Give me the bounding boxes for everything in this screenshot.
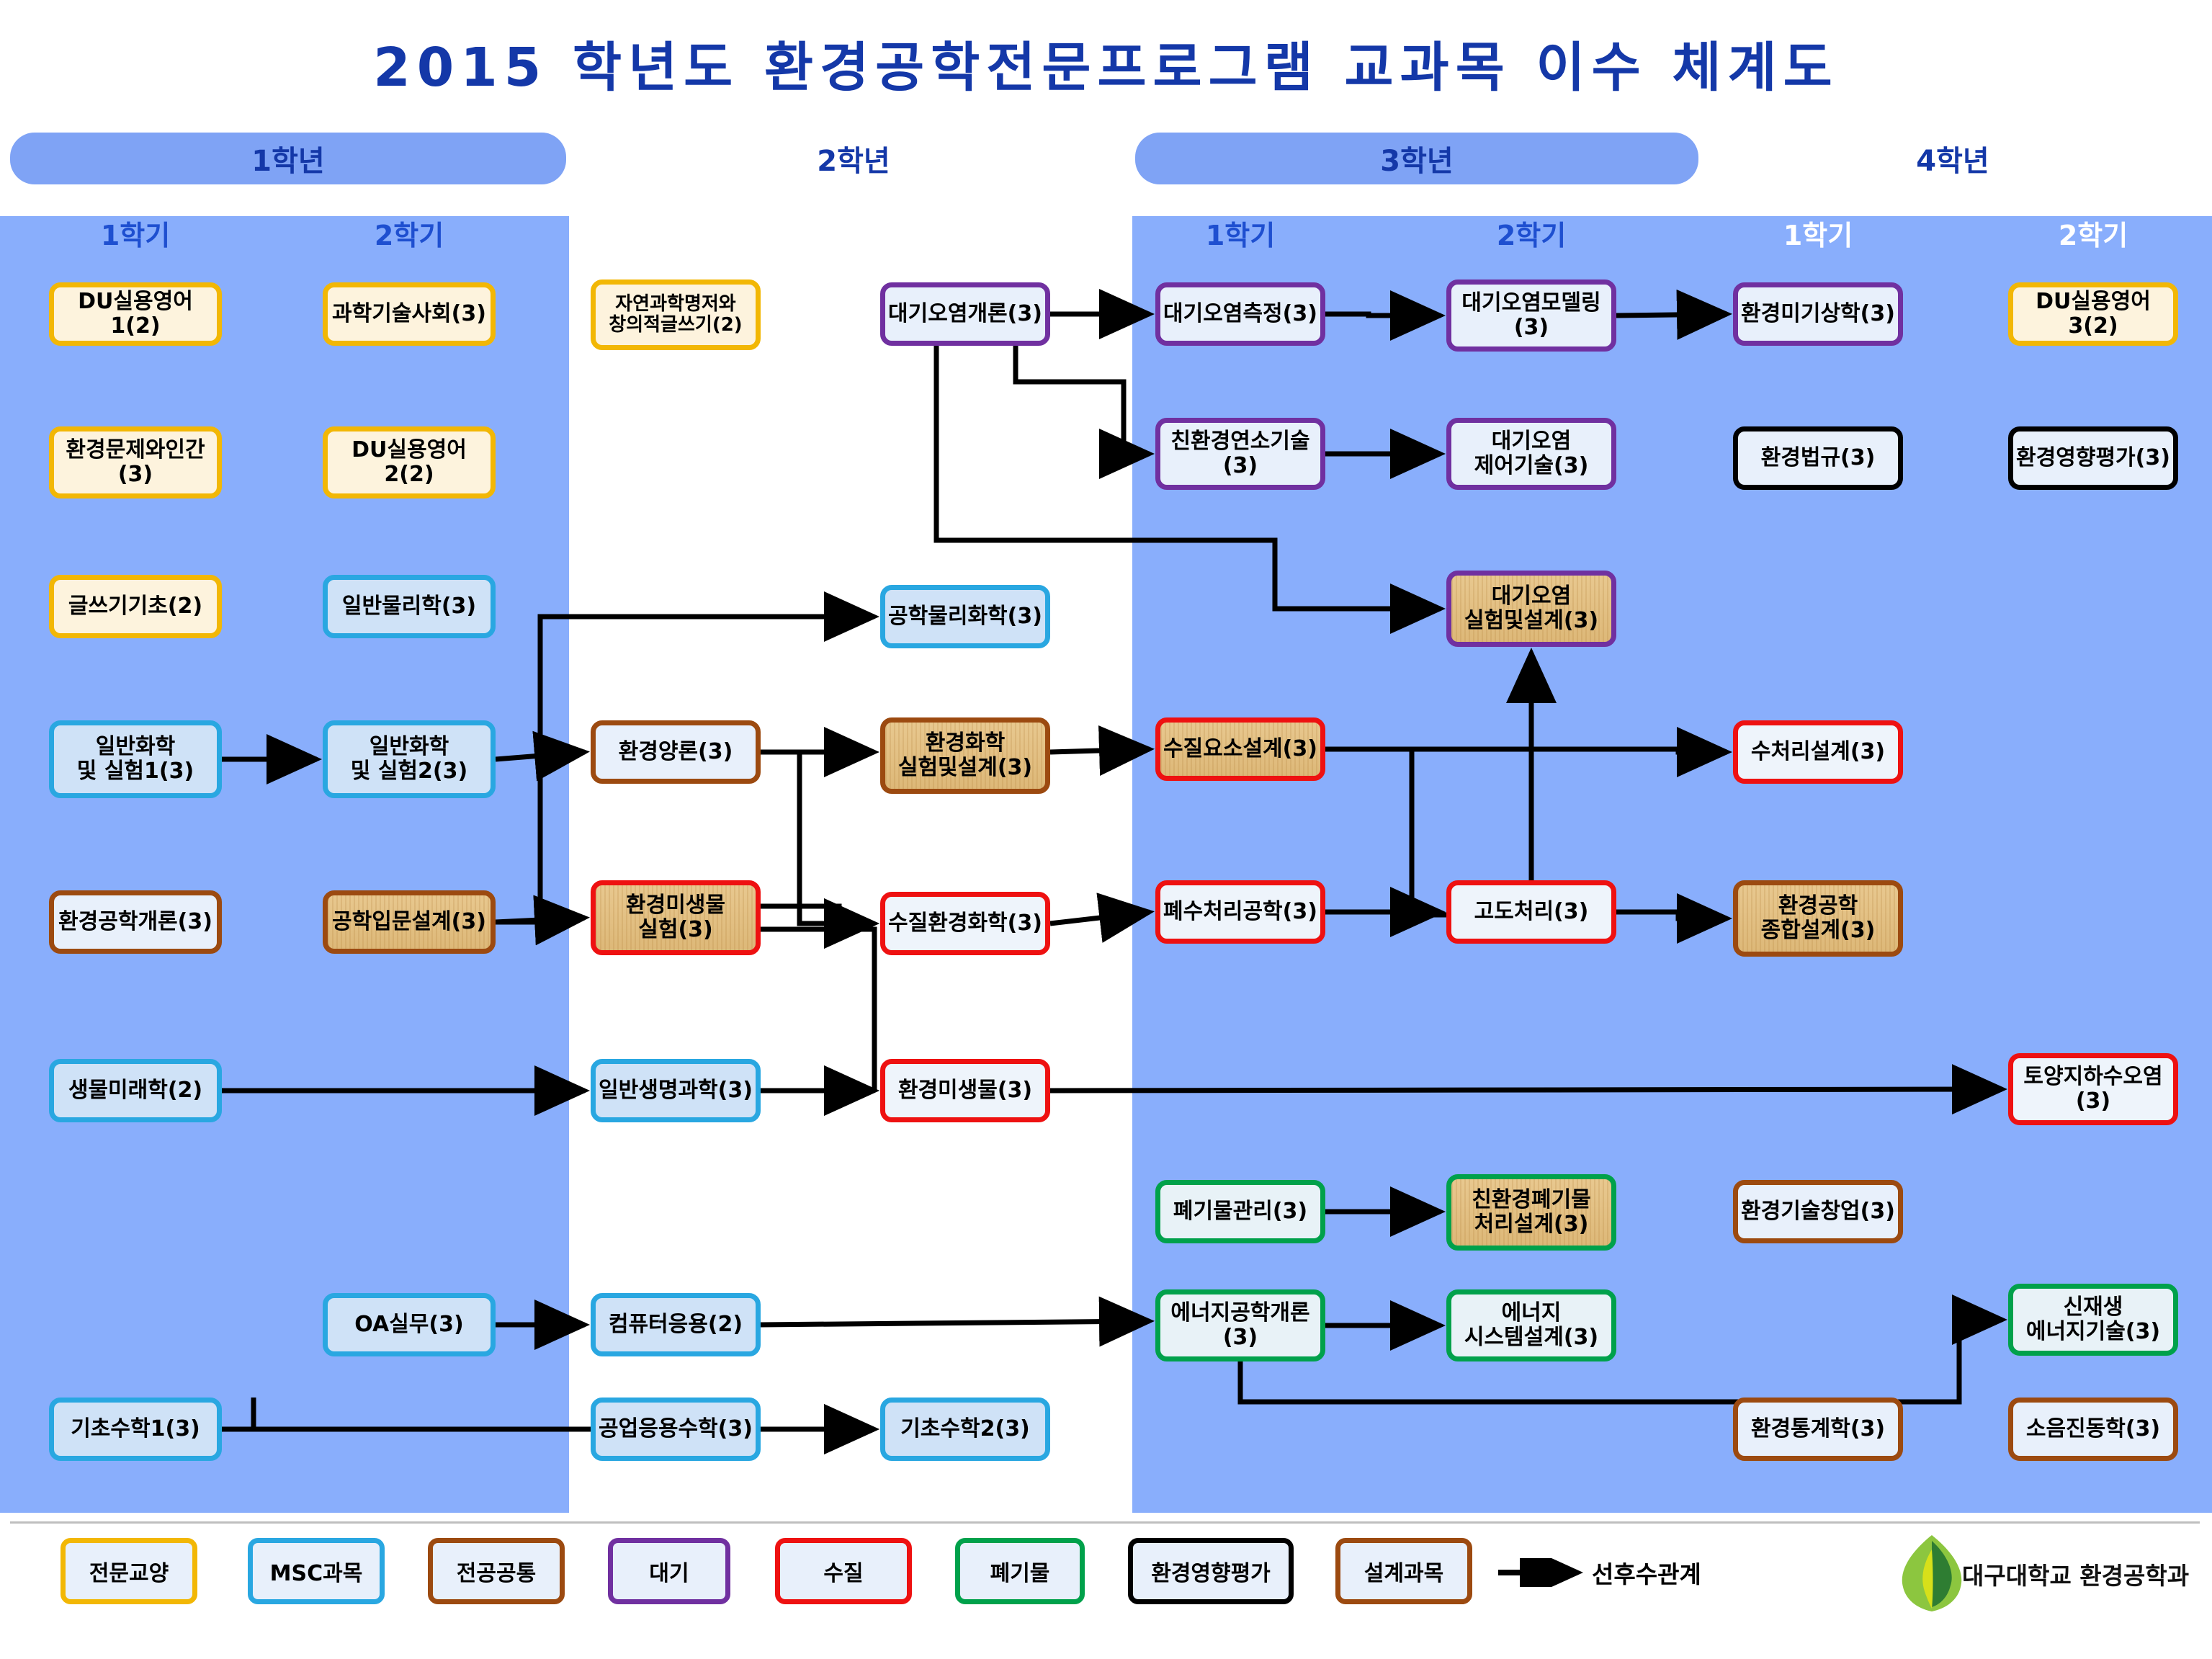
course-box[interactable]: 고도처리(3) [1446, 880, 1616, 944]
year-header-1-label: 1학년 [251, 138, 324, 179]
legend: 전문교양MSC과목전공공통대기수질폐기물환경영향평가설계과목 선후수관계 대구대… [10, 1521, 2200, 1646]
course-box[interactable]: 생물미래학(2) [49, 1059, 222, 1122]
course-label: 에너지 시스템설계(3) [1464, 1301, 1598, 1349]
course-box[interactable]: 환경화학 실험및설계(3) [880, 717, 1050, 794]
course-box[interactable]: OA실무(3) [323, 1293, 496, 1356]
course-box[interactable]: 수질환경화학(3) [880, 892, 1050, 955]
course-box[interactable]: DU실용영어1(2) [49, 282, 222, 346]
course-box[interactable]: 과학기술사회(3) [323, 282, 496, 346]
course-label: 소음진동학(3) [2026, 1417, 2160, 1441]
course-label: 친환경폐기물 처리설계(3) [1472, 1188, 1591, 1236]
course-box[interactable]: 에너지 시스템설계(3) [1446, 1289, 1616, 1361]
course-label: 환경문제와인간 (3) [66, 438, 205, 486]
legend-item[interactable]: 설계과목 [1335, 1538, 1472, 1604]
course-label: DU실용영어1(2) [57, 290, 214, 338]
legend-item-label: 전공공통 [457, 1555, 536, 1587]
legend-item[interactable]: 대기 [608, 1538, 730, 1604]
course-label: 일반화학 및 실험2(3) [351, 735, 467, 783]
course-label: 폐기물관리(3) [1173, 1199, 1307, 1224]
year-header-2: 2학년 [576, 133, 1131, 184]
course-box[interactable]: DU실용영어3(2) [2008, 282, 2178, 346]
course-box[interactable]: 일반물리학(3) [323, 575, 496, 638]
course-label: 공학입문설계(3) [332, 910, 486, 934]
course-box[interactable]: 환경문제와인간 (3) [49, 426, 222, 498]
course-label: 대기오염모델링 (3) [1461, 291, 1600, 339]
course-label: 친환경연소기술 (3) [1170, 429, 1309, 478]
university-label: 대구대학교 환경공학과 [1962, 1557, 2189, 1591]
course-box[interactable]: 자연과학명저와 창의적글쓰기(2) [591, 280, 761, 350]
course-box[interactable]: 환경미기상학(3) [1733, 282, 1903, 346]
semester-header-6: 1학기 [1739, 213, 1897, 253]
course-box[interactable]: 환경영향평가(3) [2008, 426, 2178, 490]
course-box[interactable]: 일반화학 및 실험2(3) [323, 720, 496, 798]
legend-item-label: 대기 [649, 1555, 689, 1587]
legend-item[interactable]: 전문교양 [61, 1538, 197, 1604]
course-label: 기초수학1(3) [71, 1417, 200, 1441]
course-box[interactable]: 수질요소설계(3) [1155, 717, 1325, 781]
course-label: DU실용영어2(2) [331, 438, 488, 486]
course-label: 환경화학 실험및설계(3) [898, 731, 1032, 779]
year-header-3: 3학년 [1135, 133, 1698, 184]
course-box[interactable]: 환경기술창업(3) [1733, 1180, 1903, 1243]
legend-item[interactable]: 폐기물 [955, 1538, 1085, 1604]
course-box[interactable]: 대기오염 제어기술(3) [1446, 418, 1616, 490]
course-label: 환경기술창업(3) [1741, 1199, 1895, 1224]
course-box[interactable]: 환경공학 종합설계(3) [1733, 880, 1903, 957]
course-box[interactable]: 소음진동학(3) [2008, 1398, 2178, 1461]
course-label: 폐수처리공학(3) [1163, 900, 1317, 924]
page-title: 2015 학년도 환경공학전문프로그램 교과목 이수 체계도 [0, 24, 2212, 102]
course-label: 일반생명과학(3) [599, 1078, 753, 1103]
course-box[interactable]: 신재생 에너지기술(3) [2008, 1284, 2178, 1356]
course-box[interactable]: DU실용영어2(2) [323, 426, 496, 498]
course-box[interactable]: 대기오염모델링 (3) [1446, 280, 1616, 352]
course-label: 환경양론(3) [619, 740, 733, 764]
semester-header-7: 2학기 [2014, 213, 2172, 253]
course-label: 신재생 에너지기술(3) [2026, 1295, 2160, 1343]
course-label: 환경미기상학(3) [1741, 302, 1895, 326]
course-box[interactable]: 공업응용수학(3) [591, 1398, 761, 1461]
course-box[interactable]: 친환경연소기술 (3) [1155, 418, 1325, 490]
legend-item-label: 설계과목 [1364, 1555, 1443, 1587]
year-band-2-white [569, 216, 578, 1513]
course-box[interactable]: 친환경폐기물 처리설계(3) [1446, 1174, 1616, 1251]
legend-item[interactable]: 환경영향평가 [1128, 1538, 1294, 1604]
course-label: 일반화학 및 실험1(3) [77, 735, 194, 783]
course-label: 컴퓨터응용(2) [609, 1313, 743, 1337]
course-label: OA실무(3) [354, 1313, 463, 1337]
legend-item[interactable]: MSC과목 [248, 1538, 385, 1604]
course-box[interactable]: 수처리설계(3) [1733, 720, 1903, 784]
course-box[interactable]: 공학입문설계(3) [323, 890, 496, 954]
course-label: 수질요소설계(3) [1163, 737, 1317, 761]
course-label: 수질환경화학(3) [888, 911, 1042, 936]
semester-header-1: 2학기 [330, 213, 488, 253]
course-label: 대기오염 제어기술(3) [1474, 429, 1589, 478]
course-box[interactable]: 대기오염측정(3) [1155, 282, 1325, 346]
course-box[interactable]: 공학물리화학(3) [880, 585, 1050, 648]
course-label: 환경법규(3) [1761, 446, 1876, 470]
year-header-2-label: 2학년 [817, 138, 890, 179]
course-box[interactable]: 환경통계학(3) [1733, 1398, 1903, 1461]
course-label: 환경통계학(3) [1751, 1417, 1885, 1441]
course-label: 대기오염측정(3) [1163, 302, 1317, 326]
legend-item-label: MSC과목 [270, 1555, 363, 1587]
course-label: 환경공학개론(3) [58, 910, 212, 934]
course-label: 수처리설계(3) [1751, 740, 1885, 764]
curriculum-flowchart: 2015 학년도 환경공학전문프로그램 교과목 이수 체계도 1학년 2학년 3… [0, 0, 2212, 1659]
semester-header-3: 2학기 [886, 213, 1044, 253]
course-label: 토양지하수오염 (3) [2023, 1065, 2162, 1113]
course-box[interactable]: 글쓰기기초(2) [49, 575, 222, 638]
course-label: 공학물리화학(3) [888, 604, 1042, 629]
year-header-1: 1학년 [10, 133, 566, 184]
legend-item-label: 수질 [823, 1555, 863, 1587]
course-label: 고도처리(3) [1474, 900, 1589, 924]
course-label: 환경미생물 실험(3) [626, 893, 725, 942]
course-box[interactable]: 에너지공학개론 (3) [1155, 1289, 1325, 1361]
course-label: 생물미래학(2) [68, 1078, 202, 1103]
course-label: 환경미생물(3) [898, 1078, 1032, 1103]
course-label: 공업응용수학(3) [599, 1417, 753, 1441]
year-header-3-label: 3학년 [1380, 138, 1453, 179]
legend-item-label: 폐기물 [990, 1555, 1050, 1587]
course-box[interactable]: 대기오염 실험및설계(3) [1446, 571, 1616, 647]
course-label: 기초수학2(3) [900, 1417, 1030, 1441]
course-box[interactable]: 폐수처리공학(3) [1155, 880, 1325, 944]
semester-header-0: 1학기 [56, 213, 215, 253]
course-box[interactable]: 환경공학개론(3) [49, 890, 222, 954]
legend-item-label: 전문교양 [89, 1555, 169, 1587]
course-box[interactable]: 환경미생물(3) [880, 1059, 1050, 1122]
year-header-4-label: 4학년 [1916, 138, 1989, 179]
legend-item-label: 환경영향평가 [1151, 1555, 1271, 1587]
course-box[interactable]: 토양지하수오염 (3) [2008, 1053, 2178, 1125]
legend-item[interactable]: 수질 [775, 1538, 912, 1604]
year-header-4: 4학년 [1703, 133, 2203, 184]
course-label: 에너지공학개론 (3) [1170, 1301, 1309, 1349]
course-label: 대기오염개론(3) [888, 302, 1042, 326]
course-label: 대기오염 실험및설계(3) [1464, 584, 1598, 632]
course-box[interactable]: 일반생명과학(3) [591, 1059, 761, 1122]
course-box[interactable]: 일반화학 및 실험1(3) [49, 720, 222, 798]
course-box[interactable]: 대기오염개론(3) [880, 282, 1050, 346]
course-label: 과학기술사회(3) [332, 302, 486, 326]
legend-relation-label: 선후수관계 [1592, 1555, 1701, 1590]
course-label: 글쓰기기초(2) [68, 594, 202, 619]
legend-item[interactable]: 전공공통 [428, 1538, 565, 1604]
course-box[interactable]: 환경양론(3) [591, 720, 761, 784]
course-box[interactable]: 기초수학2(3) [880, 1398, 1050, 1461]
legend-arrow [1498, 1558, 1592, 1587]
course-box[interactable]: 기초수학1(3) [49, 1398, 222, 1461]
course-label: 환경공학 종합설계(3) [1761, 894, 1876, 942]
course-label: DU실용영어3(2) [2016, 290, 2170, 338]
course-box[interactable]: 폐기물관리(3) [1155, 1180, 1325, 1243]
course-box[interactable]: 환경미생물 실험(3) [591, 880, 761, 955]
semester-header-4: 1학기 [1161, 213, 1320, 253]
course-box[interactable]: 환경법규(3) [1733, 426, 1903, 490]
course-label: 일반물리학(3) [342, 594, 476, 619]
semester-header-2: 1학기 [596, 213, 755, 253]
course-label: 자연과학명저와 창의적글쓰기(2) [609, 294, 742, 336]
semester-header-5: 2학기 [1452, 213, 1611, 253]
course-box[interactable]: 컴퓨터응용(2) [591, 1293, 761, 1356]
course-label: 환경영향평가(3) [2016, 446, 2170, 470]
